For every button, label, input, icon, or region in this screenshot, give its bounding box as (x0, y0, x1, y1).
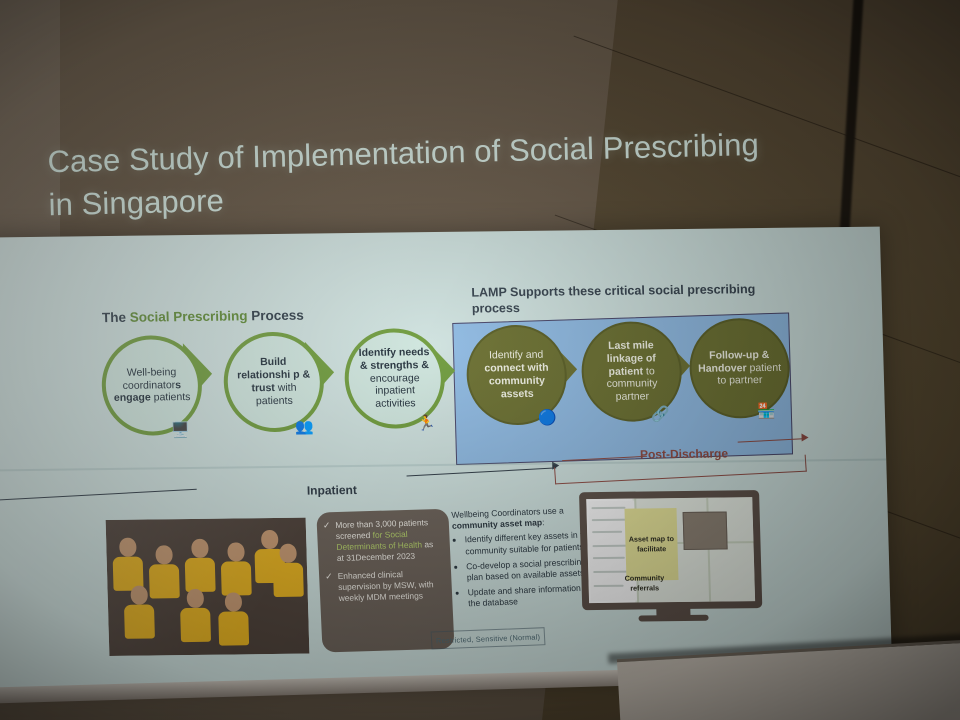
asset-map-lead-post: : (542, 517, 545, 527)
stage-1-tail: patients (151, 391, 191, 403)
projection-screen: The Social Prescribing Process LAMP Supp… (0, 227, 892, 690)
slide-body: The Social Prescribing Process LAMP Supp… (0, 227, 892, 690)
stage-identify-needs: Identify needs & strengths & encourage i… (343, 328, 446, 429)
post-discharge-arrow-head (801, 433, 808, 441)
inpatient-axis-right (407, 467, 557, 476)
asset-map-lead-pre: Wellbeing Coordinators use a (451, 505, 564, 520)
exercise-activity-icon: 🏃 (417, 416, 436, 431)
asset-map-monitor: Asset map to facilitate Community referr… (579, 490, 762, 610)
team-group-photo (106, 518, 310, 656)
presentation-room-photo: Case Study of Implementation of Social P… (0, 0, 960, 720)
classification-stamp: Restricted, Sensitive (Normal) (431, 627, 546, 649)
stage-4-bold: connect with community assets (484, 362, 549, 400)
shopfront-icon: 🏪 (757, 404, 776, 419)
asset-map-sticky-note-overflow: Community referrals (611, 573, 678, 594)
monitor-base (638, 615, 708, 622)
map-photo-inset (683, 511, 728, 550)
asset-map-sticky-note: Asset map to facilitate (624, 508, 678, 581)
check-icon: ✓ (323, 520, 333, 564)
chain-link-icon: 🔗 (651, 407, 670, 422)
stage-3-bold: Identify needs & strengths & (359, 346, 430, 372)
process-header-post: Process (247, 308, 304, 324)
asset-map-lead-bold: community asset map (452, 517, 543, 531)
fact-item-2: ✓ Enhanced clinical supervision by MSW, … (325, 568, 444, 604)
stage-1-text: Well-being coordinator (122, 366, 176, 391)
fact-item-1: ✓ More than 3,000 patients screened for … (323, 517, 443, 564)
stage-3-tail: encourage inpatient activities (370, 372, 420, 410)
lamp-header: LAMP Supports these critical social pres… (471, 282, 772, 317)
stage-2-bold: Build relationshi p & trust (237, 356, 310, 394)
inpatient-label: Inpatient (307, 483, 357, 498)
stage-build-relationship: Build relationshi p & trust with patient… (222, 331, 325, 432)
computer-screening-icon: 🖥️ (171, 423, 190, 438)
two-people-icon: 👥 (295, 419, 314, 434)
process-header: The Social Prescribing Process (102, 308, 304, 325)
fact-2-text: Enhanced clinical supervision by MSW, wi… (337, 568, 444, 604)
inpatient-axis-left (0, 489, 197, 501)
asset-map-lead: Wellbeing Coordinators use a community a… (451, 504, 600, 532)
process-header-accent: Social Prescribing (130, 308, 248, 324)
network-bubbles-icon: 🔵 (538, 411, 557, 426)
stage-4-text: Identify and (489, 349, 544, 362)
check-icon: ✓ (325, 571, 334, 604)
process-header-pre: The (102, 310, 130, 325)
